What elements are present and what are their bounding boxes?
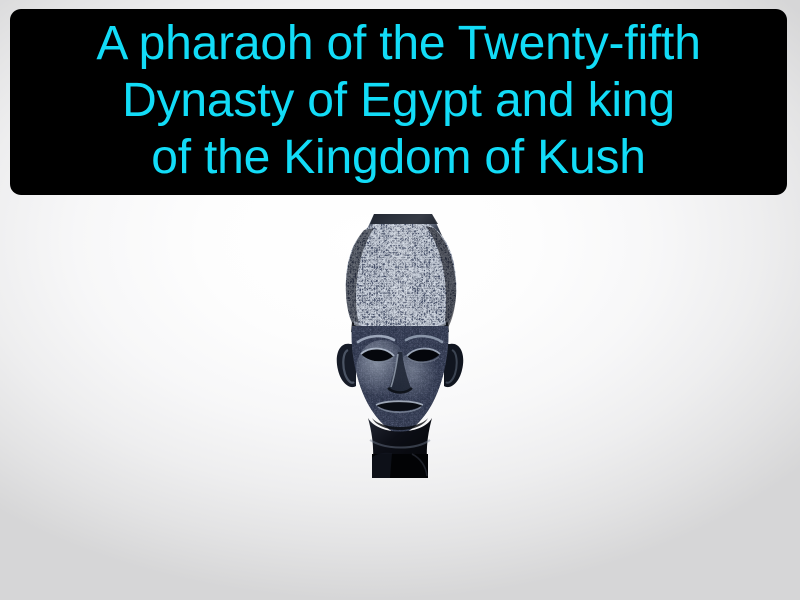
statue-headdress xyxy=(340,218,464,341)
statue-face xyxy=(346,320,456,440)
definition-line-3: of the Kingdom of Kush xyxy=(151,129,646,186)
definition-card: A pharaoh of the Twenty-fifth Dynasty of… xyxy=(0,0,800,600)
definition-banner: A pharaoh of the Twenty-fifth Dynasty of… xyxy=(10,9,787,195)
pharaoh-head-statue-image: Dark stone sculpted head of a Kushite ph… xyxy=(312,202,488,484)
pharaoh-head-statue-graphic xyxy=(312,202,488,484)
definition-line-2: Dynasty of Egypt and king xyxy=(122,72,675,129)
definition-line-1: A pharaoh of the Twenty-fifth xyxy=(96,15,700,72)
